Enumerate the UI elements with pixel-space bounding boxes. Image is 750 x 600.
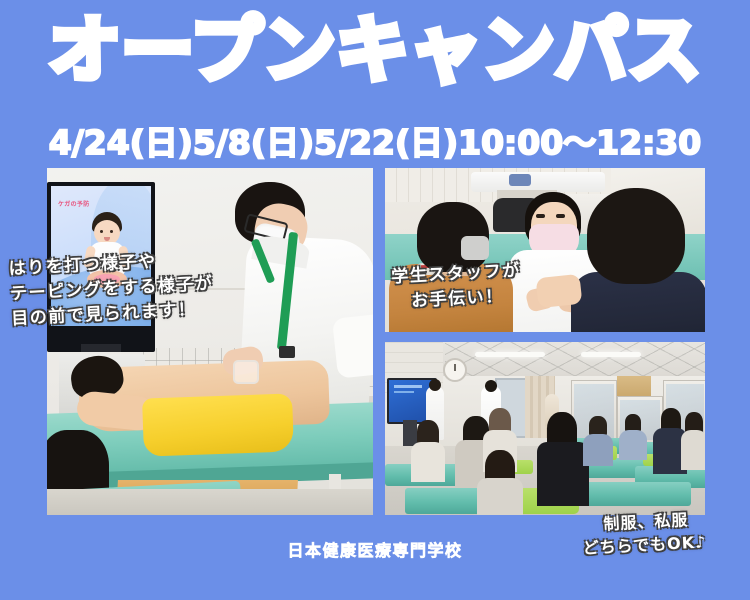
classroom-bed-7 [571,482,691,506]
presentation-monitor: ケガの予防 [47,182,155,352]
monitor-screen: ケガの予防 [51,186,151,326]
display-text-line-2 [394,391,414,393]
attendee-body-4 [537,442,589,506]
display-text-line-1 [394,385,422,388]
photo-bottom-right-classroom [385,342,705,515]
ceiling-light-2 [581,352,641,357]
attendee-head-5 [589,416,607,436]
staff-eye-right [556,214,565,218]
ceiling-grid [445,342,705,380]
monitor-base [81,344,121,352]
visitor-male-figure [395,202,505,332]
photo-top-right-staff [385,168,705,332]
attendee-body-5 [583,434,613,466]
attendee-body-9 [477,478,523,515]
attendee-body-1 [411,442,445,482]
staff-eye-left [536,214,545,218]
floor [47,489,373,515]
background-bag [509,174,531,186]
visitor-forearm [536,274,583,308]
wood-panel [617,376,651,398]
cupping-cup [233,360,259,384]
ceiling-light-1 [475,352,545,357]
assistant-head [429,379,441,391]
instructor-sleeve [332,313,373,378]
illustration-eye-right [110,230,113,233]
attendee-body-6 [619,430,647,460]
yellow-towel [142,393,294,456]
event-date-line: 4/24(日)5/8(日)5/22(日)10:00〜12:30 [0,116,750,164]
illustration-eye-left [100,230,103,233]
visitor-male-mask [461,236,489,260]
slide-heading-text: ケガの予防 [58,199,90,208]
poster-root: オープンキャンパス 4/24(日)5/8(日)5/22(日)10:00〜12:3… [0,0,750,600]
attendee-body-8 [681,430,705,470]
photo-left-treatment: ケガの予防 [47,168,373,515]
slide-illustration-character [85,212,129,286]
visitor-female-figure [573,188,705,332]
presenter-head [485,380,497,392]
instructor-id-badge [279,346,295,358]
illustration-injury-pad [94,274,120,284]
school-name: 日本健康医療専門学校 [0,537,750,561]
wall-clock [443,358,467,382]
clock-hand [454,364,456,371]
visitor-female-hair [587,188,685,284]
page-title: オープンキャンパス [0,14,750,86]
